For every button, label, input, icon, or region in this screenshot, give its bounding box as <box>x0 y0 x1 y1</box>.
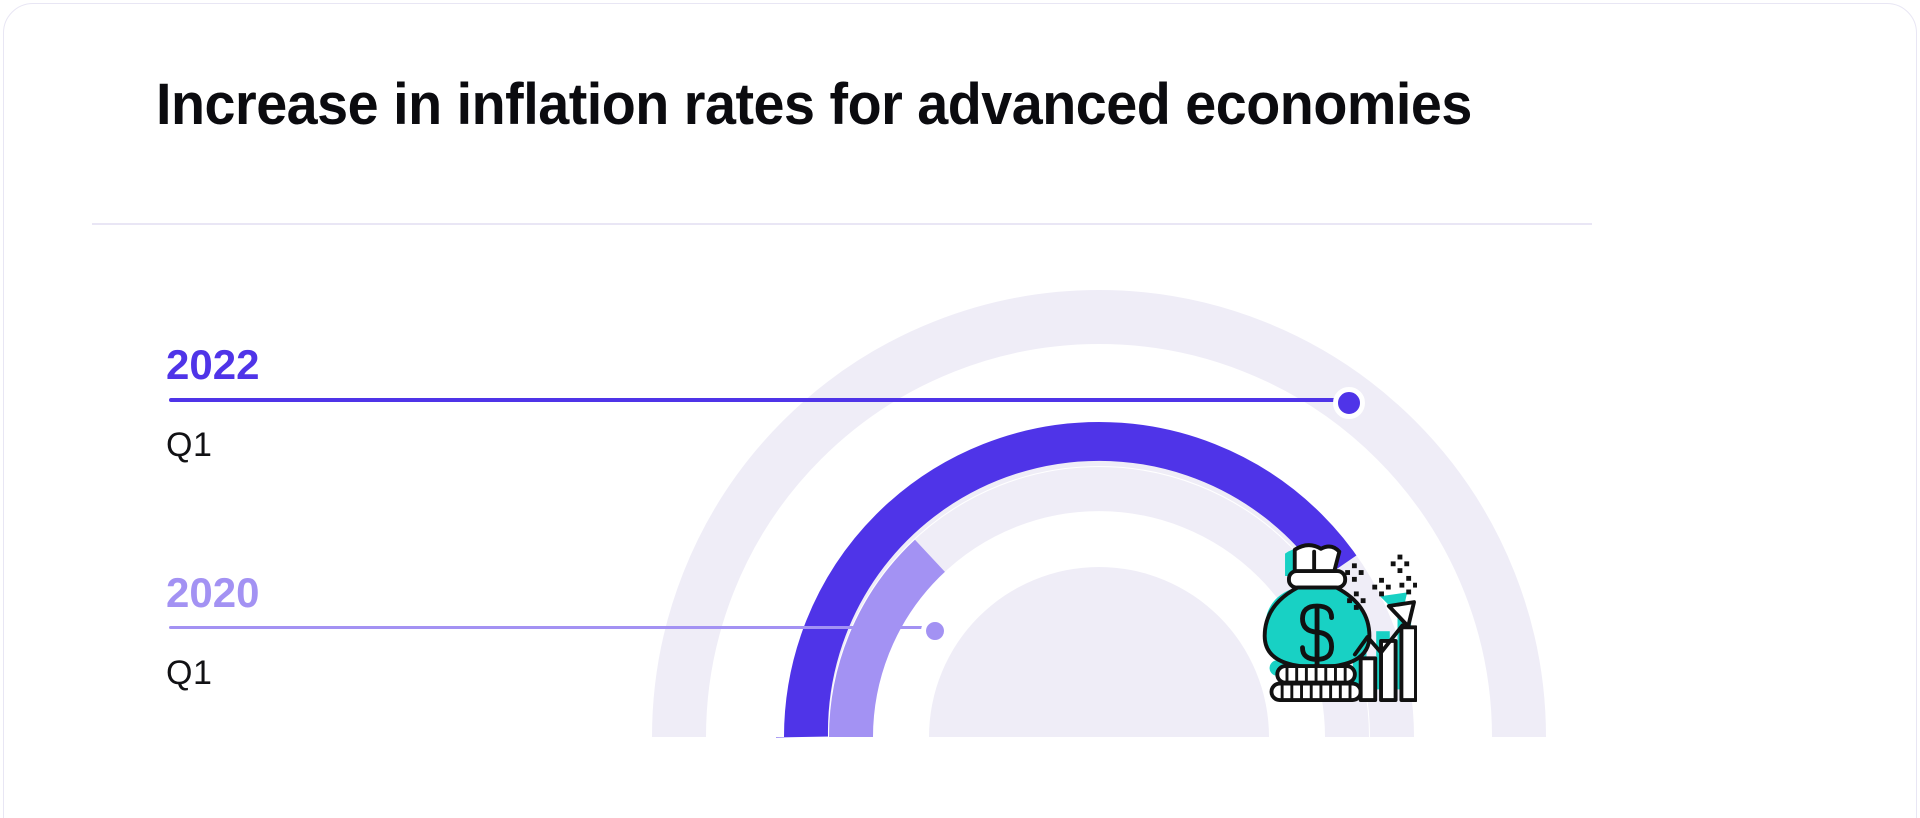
series-quarter-2020: Q1 <box>166 656 212 690</box>
series-quarter-2022: Q1 <box>166 428 212 462</box>
leader-line-2020 <box>169 626 932 629</box>
leader-endpoint-2022 <box>1333 387 1365 419</box>
gauge-value-2020 <box>854 558 932 737</box>
money-bag-growth-icon <box>1252 542 1417 702</box>
infographic-canvas: Increase in inflation rates for advanced… <box>0 0 1920 818</box>
leader-line-2022 <box>169 398 1344 402</box>
series-label-2022: 2022 <box>166 344 259 386</box>
series-label-2020: 2020 <box>166 572 259 614</box>
title-divider <box>92 223 1592 225</box>
chart-card: Increase in inflation rates for advanced… <box>3 3 1917 818</box>
leader-endpoint-2020 <box>921 617 949 645</box>
page-title: Increase in inflation rates for advanced… <box>156 72 1769 139</box>
gauge-inner-disc <box>929 567 1269 737</box>
